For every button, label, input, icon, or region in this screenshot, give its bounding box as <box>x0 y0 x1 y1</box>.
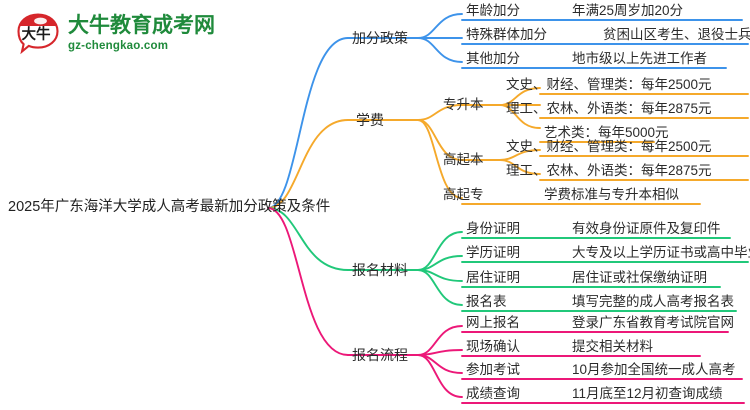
leaf-node-detail[interactable]: 有效身份证原件及复印件 <box>572 222 721 236</box>
leaf-node-detail[interactable]: 登录广东省教育考试院官网 <box>572 316 734 330</box>
subbranch-node-zhuanshengben[interactable]: 专升本 <box>443 98 484 112</box>
leaf-node-detail[interactable]: 学费标准与专升本相似 <box>544 188 679 202</box>
leaf-node-detail[interactable]: 文史、财经、管理类：每年2500元 <box>506 78 712 92</box>
mindmap-root-node[interactable]: 2025年广东海洋大学成人高考最新加分政策及条件 <box>8 200 330 215</box>
leaf-node-detail[interactable]: 理工、农林、外语类：每年2875元 <box>506 164 712 178</box>
leaf-node-label[interactable]: 现场确认 <box>466 340 520 354</box>
mindmap-page: 大牛 大牛教育成考网 gz-chengkao.com <box>0 0 750 410</box>
leaf-node-label[interactable]: 成绩查询 <box>466 387 520 401</box>
leaf-node-detail[interactable]: 大专及以上学历证书或高中毕业证 <box>572 246 750 260</box>
leaf-node-label[interactable]: 网上报名 <box>466 316 520 330</box>
leaf-node-detail[interactable]: 文史、财经、管理类：每年2500元 <box>506 140 712 154</box>
branch-node-baomingliucheng[interactable]: 报名流程 <box>352 348 408 362</box>
leaf-node-label[interactable]: 学历证明 <box>466 246 520 260</box>
leaf-node-label[interactable]: 报名表 <box>466 295 507 309</box>
leaf-node-label[interactable]: 其他加分 <box>466 52 520 66</box>
leaf-node-detail[interactable]: 11月底至12月初查询成绩 <box>572 387 723 401</box>
leaf-node-detail[interactable]: 贫困山区考生、退役士兵等 <box>603 28 750 42</box>
leaf-node-label[interactable]: 年龄加分 <box>466 4 520 18</box>
leaf-node-detail[interactable]: 提交相关材料 <box>572 340 653 354</box>
leaf-node-detail[interactable]: 理工、农林、外语类：每年2875元 <box>506 102 712 116</box>
leaf-node-detail[interactable]: 地市级以上先进工作者 <box>572 52 707 66</box>
leaf-node-label[interactable]: 参加考试 <box>466 363 520 377</box>
leaf-node-detail[interactable]: 10月参加全国统一成人高考 <box>572 363 736 377</box>
leaf-node-detail[interactable]: 年满25周岁加20分 <box>572 4 683 18</box>
leaf-node-label[interactable]: 身份证明 <box>466 222 520 236</box>
leaf-node-detail[interactable]: 艺术类：每年5000元 <box>544 126 669 140</box>
branch-node-jiafenzhengce[interactable]: 加分政策 <box>352 31 408 45</box>
subbranch-node-gaoqiben[interactable]: 高起本 <box>443 153 484 167</box>
branch-node-baomingcailiao[interactable]: 报名材料 <box>352 263 408 277</box>
leaf-node-detail[interactable]: 填写完整的成人高考报名表 <box>572 295 734 309</box>
leaf-node-label[interactable]: 特殊群体加分 <box>466 28 547 42</box>
leaf-node-detail[interactable]: 居住证或社保缴纳证明 <box>572 271 707 285</box>
branch-node-xuefei[interactable]: 学费 <box>356 113 384 127</box>
subbranch-node-gaoqizhuan[interactable]: 高起专 <box>443 188 484 202</box>
leaf-node-label[interactable]: 居住证明 <box>466 271 520 285</box>
